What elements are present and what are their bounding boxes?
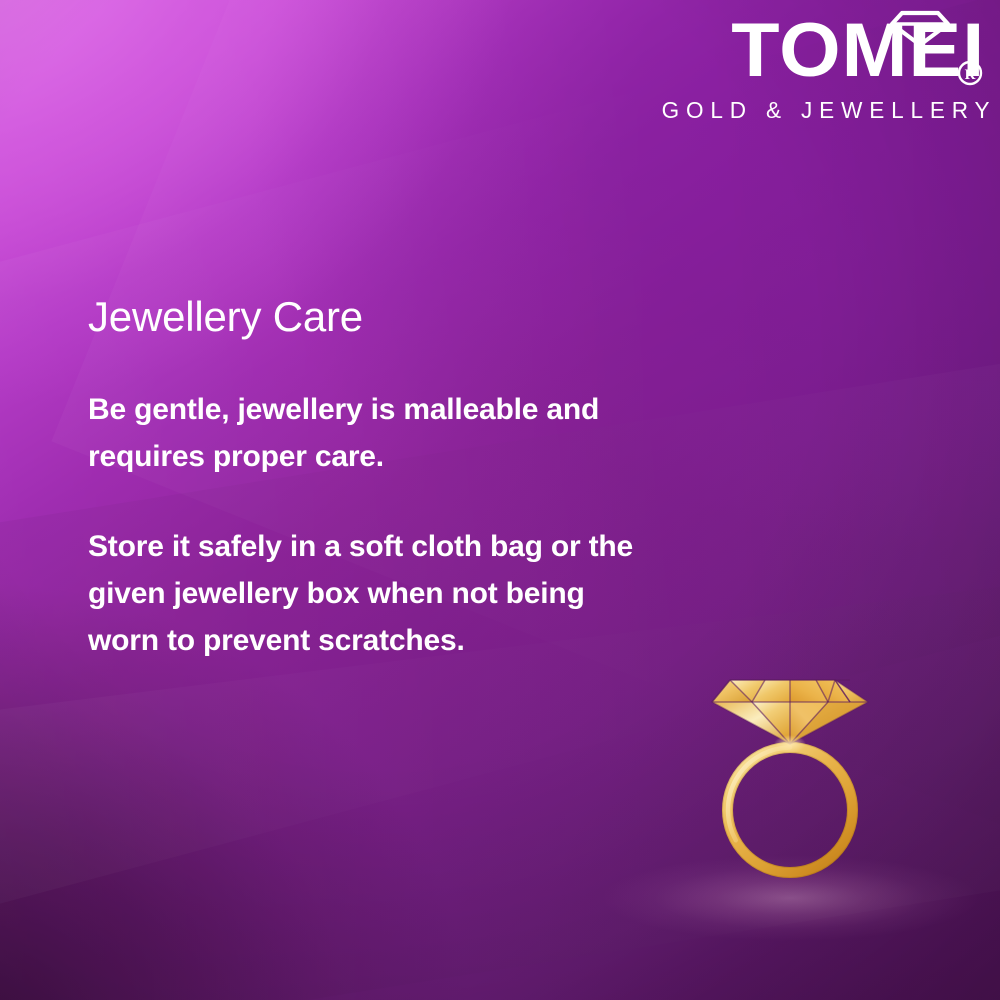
page-title: Jewellery Care <box>88 292 648 342</box>
copy-block: Jewellery Care Be gentle, jewellery is m… <box>88 292 648 664</box>
logo-wordmark-row: TOMEI R <box>655 8 985 94</box>
gold-diamond-ring-illustration <box>690 640 890 910</box>
logo-tagline-text: GOLD & JEWELLERY <box>662 97 985 124</box>
brand-logo: TOMEI R GOLD & JEWELLERY <box>655 8 985 124</box>
ring-band-icon <box>722 742 857 877</box>
body-paragraph-2: Store it safely in a soft cloth bag or t… <box>88 523 648 664</box>
body-paragraph-1: Be gentle, jewellery is malleable and re… <box>88 386 648 480</box>
ring-graphic <box>690 640 890 910</box>
poster-canvas: TOMEI R GOLD & JEWELLERY Jewellery Care … <box>0 0 1000 1000</box>
registered-trademark-icon: R <box>957 60 983 86</box>
diamond-gem-icon <box>712 680 868 753</box>
svg-text:R: R <box>965 67 976 83</box>
diamond-outline-icon <box>889 10 951 48</box>
